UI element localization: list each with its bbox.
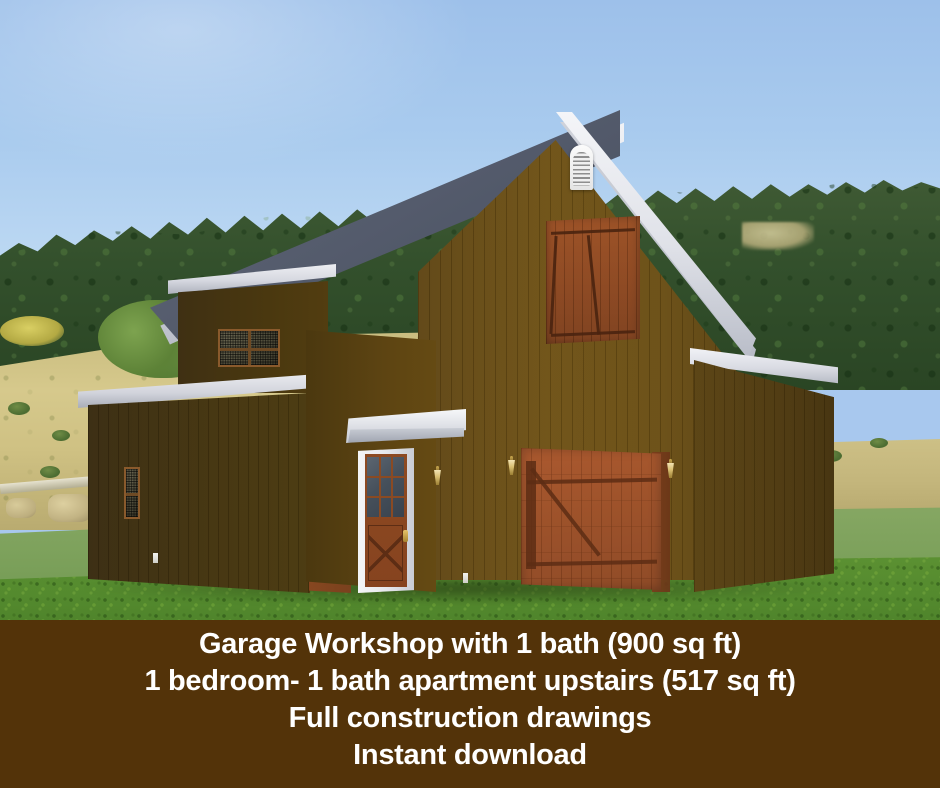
caption-line-2: 1 bedroom- 1 bath apartment upstairs (51… bbox=[144, 663, 795, 700]
caption-line-4: Instant download bbox=[353, 737, 587, 774]
wall-sconce-light bbox=[432, 466, 443, 486]
wall-sconce-light bbox=[665, 459, 676, 479]
garage-door-grain bbox=[521, 448, 661, 590]
hillside-shrub bbox=[40, 466, 60, 478]
caption-line-3: Full construction drawings bbox=[289, 700, 652, 737]
second-floor-window bbox=[218, 329, 280, 367]
window-muntin-horizontal bbox=[220, 348, 278, 351]
garage-door-brace-left bbox=[526, 461, 536, 569]
sconce-shade-icon bbox=[507, 460, 516, 475]
left-wing-siding bbox=[88, 393, 310, 593]
wall-sconce-light bbox=[506, 456, 517, 476]
caption-banner: Garage Workshop with 1 bath (900 sq ft) … bbox=[0, 620, 940, 788]
entry-door-x-panel bbox=[368, 525, 403, 581]
hay-bale bbox=[6, 498, 36, 518]
door-muntin-vertical bbox=[379, 457, 381, 517]
sconce-shade-icon bbox=[666, 463, 675, 478]
gable-vent-louvers-icon bbox=[573, 152, 590, 186]
sconce-shade-icon bbox=[433, 470, 442, 485]
listing-image: Garage Workshop with 1 bath (900 sq ft) … bbox=[0, 0, 940, 788]
door-muntin-vertical bbox=[391, 457, 393, 517]
door-muntin-horizontal bbox=[367, 476, 404, 478]
hillside-shrub bbox=[8, 402, 30, 415]
exterior-outlet bbox=[153, 553, 158, 563]
right-wing-siding bbox=[694, 360, 834, 592]
window-muntin-horizontal bbox=[126, 493, 138, 496]
entry-door-glass bbox=[367, 457, 404, 517]
hillside-shrub bbox=[870, 438, 888, 448]
door-muntin-horizontal bbox=[367, 496, 404, 498]
rock-outcrop bbox=[742, 222, 814, 250]
side-window bbox=[124, 467, 140, 519]
exterior-outlet bbox=[463, 573, 468, 583]
hay-bale bbox=[48, 494, 92, 522]
door-knob-icon bbox=[403, 530, 408, 542]
hillside-shrub bbox=[52, 430, 70, 441]
yellow-bush bbox=[0, 316, 64, 346]
caption-line-1: Garage Workshop with 1 bath (900 sq ft) bbox=[199, 626, 741, 663]
